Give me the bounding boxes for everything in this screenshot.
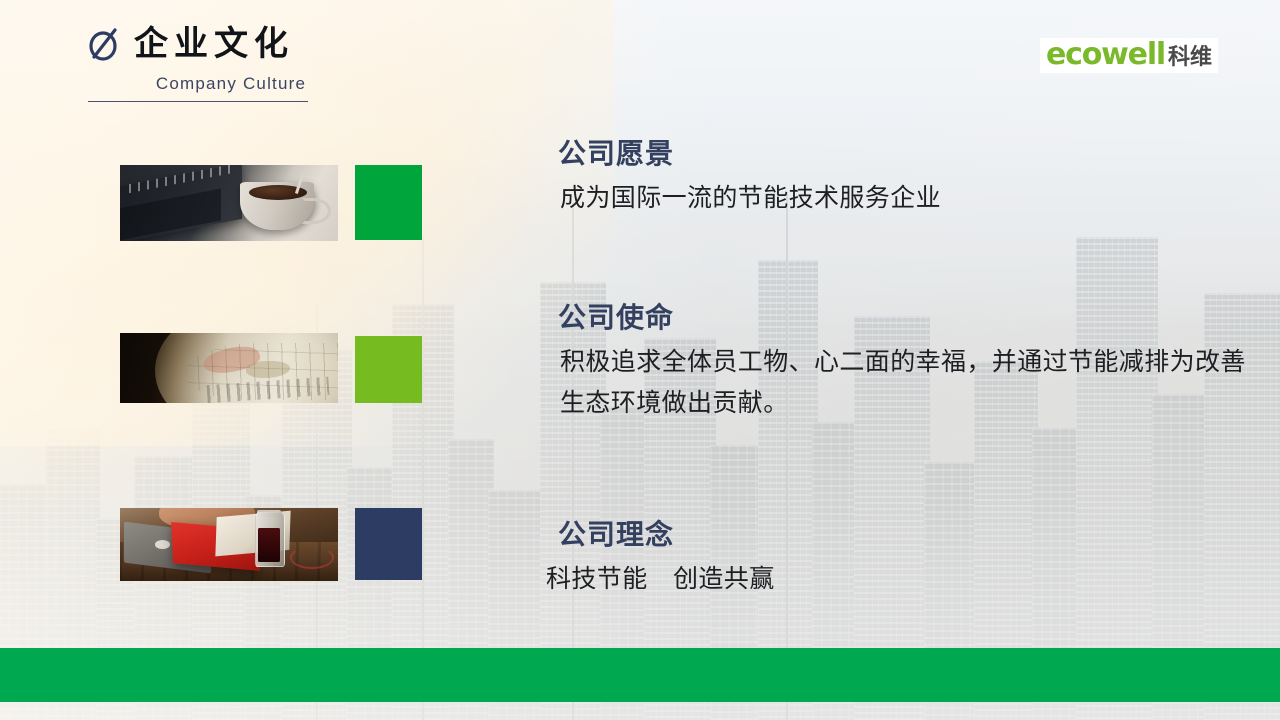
green-color-chip — [355, 165, 422, 240]
page-subtitle: Company Culture — [88, 74, 388, 94]
company-logo: ecowell 科维 — [1040, 38, 1218, 73]
footer-accent-bar — [0, 648, 1280, 702]
page-title: 企业文化 — [134, 27, 294, 61]
logo-chinese-name: 科维 — [1168, 46, 1212, 68]
section-heading: 公司理念 — [558, 513, 775, 553]
page-title-block: 企业文化 Company Culture — [88, 26, 388, 102]
media-row — [120, 165, 338, 241]
section-mission: 公司使命 积极追求全体员工物、心二面的幸福，并通过节能减排为改善生态环境做出贡献… — [546, 296, 1250, 423]
globe-map-photo — [120, 333, 338, 403]
section-body: 成为国际一流的节能技术服务企业 — [546, 178, 941, 219]
section-philosophy: 公司理念 科技节能 创造共赢 — [546, 513, 775, 600]
section-vision: 公司愿景 成为国际一流的节能技术服务企业 — [546, 132, 941, 219]
slashed-circle-icon — [88, 26, 120, 62]
section-body: 积极追求全体员工物、心二面的幸福，并通过节能减排为改善生态环境做出贡献。 — [546, 342, 1250, 423]
section-heading: 公司使命 — [558, 296, 1250, 336]
section-body: 科技节能 创造共赢 — [546, 559, 775, 600]
slide-canvas: 企业文化 Company Culture ecowell 科维 — [0, 0, 1280, 720]
logo-wordmark: ecowell — [1046, 40, 1165, 70]
title-underline — [88, 101, 308, 102]
media-row — [120, 508, 338, 581]
section-heading: 公司愿景 — [558, 132, 941, 172]
media-row — [120, 333, 338, 403]
notebook-and-coffee-photo — [120, 165, 338, 241]
lime-color-chip — [355, 336, 422, 403]
navy-color-chip — [355, 508, 422, 580]
laptop-notebook-bottle-photo — [120, 508, 338, 581]
